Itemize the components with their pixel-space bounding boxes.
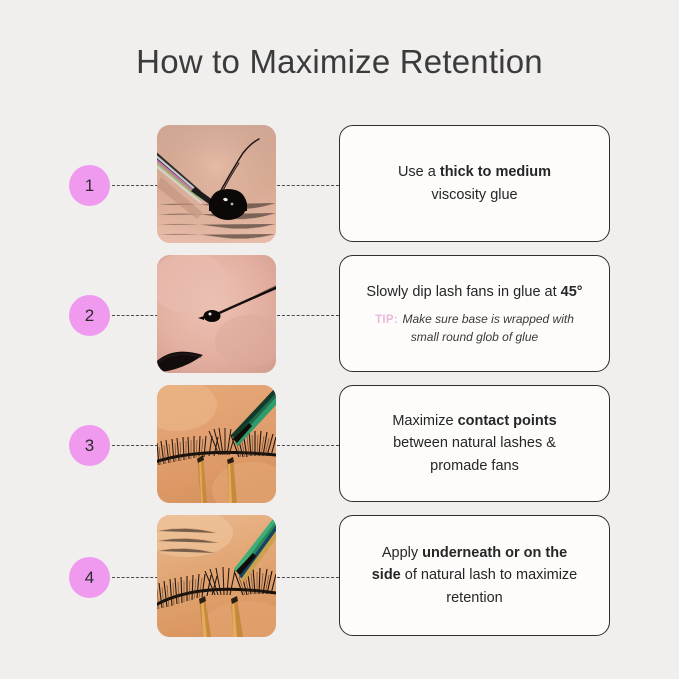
- card-text-line: between natural lashes &: [393, 432, 556, 454]
- tip-label: TIP:: [375, 314, 398, 326]
- card-text-line: promade fans: [430, 455, 519, 477]
- step-number-label: 4: [85, 568, 94, 588]
- step-row: 1: [0, 125, 679, 245]
- step-text-card: Maximize contact points between natural …: [339, 385, 610, 502]
- step-number-label: 2: [85, 306, 94, 326]
- card-text-line: Use a thick to medium: [398, 161, 551, 183]
- step-row: 2: [0, 255, 679, 375]
- page-title: How to Maximize Retention: [0, 42, 679, 82]
- card-text-plain: of natural lash to maximize: [401, 567, 578, 583]
- tweezers-lash-glue-drop-photo: [157, 125, 276, 243]
- step-text-card: Slowly dip lash fans in glue at 45° TIP:…: [339, 255, 610, 372]
- card-text-line: viscosity glue: [431, 184, 517, 206]
- lash-underneath-placement-photo: [157, 515, 276, 637]
- connector-photo-to-card: [277, 445, 339, 446]
- photo-artwork: [157, 255, 276, 373]
- lash-isolation-contact-points-photo: [157, 385, 276, 503]
- step-number-label: 1: [85, 176, 94, 196]
- card-text-line: side of natural lash to maximize: [372, 564, 578, 586]
- card-text-line: Maximize contact points: [392, 410, 556, 432]
- connector-badge-to-photo: [112, 445, 158, 446]
- tip-block: TIP: Make sure base is wrapped with smal…: [375, 310, 574, 347]
- card-text-plain: Apply: [382, 545, 422, 561]
- connector-badge-to-photo: [112, 577, 158, 578]
- lash-fan-glue-globule-photo: [157, 255, 276, 373]
- step-row: 4: [0, 515, 679, 639]
- step-number-badge: 4: [69, 557, 110, 598]
- card-text-plain: viscosity glue: [431, 187, 517, 203]
- card-text-line: Slowly dip lash fans in glue at 45°: [366, 281, 582, 303]
- card-text-plain: Maximize: [392, 413, 457, 429]
- connector-photo-to-card: [277, 315, 339, 316]
- connector-badge-to-photo: [112, 315, 158, 316]
- card-text-emphasis: contact points: [458, 413, 557, 429]
- card-text-line: retention: [446, 587, 502, 609]
- card-text-plain: retention: [446, 590, 502, 606]
- photo-artwork: [157, 125, 276, 243]
- card-text-line: Apply underneath or on the: [382, 542, 567, 564]
- connector-photo-to-card: [277, 185, 339, 186]
- step-row: 3: [0, 385, 679, 505]
- photo-artwork: [157, 515, 276, 637]
- tip-text-line: Make sure base is wrapped with: [402, 312, 573, 326]
- step-number-badge: 1: [69, 165, 110, 206]
- step-number-badge: 2: [69, 295, 110, 336]
- card-text-emphasis: 45°: [561, 284, 583, 300]
- card-text-plain: Slowly dip lash fans in glue at: [366, 284, 560, 300]
- tip-text-line: small round glob of glue: [375, 329, 574, 347]
- card-text-plain: Use a: [398, 164, 440, 180]
- card-text-emphasis: side: [372, 567, 401, 583]
- step-text-card: Use a thick to medium viscosity glue: [339, 125, 610, 242]
- connector-photo-to-card: [277, 577, 339, 578]
- card-text-emphasis: underneath or on the: [422, 545, 567, 561]
- step-number-badge: 3: [69, 425, 110, 466]
- photo-artwork: [157, 385, 276, 503]
- step-number-label: 3: [85, 436, 94, 456]
- step-text-card: Apply underneath or on the side of natur…: [339, 515, 610, 636]
- infographic-page: How to Maximize Retention 1: [0, 0, 679, 679]
- card-text-plain: promade fans: [430, 458, 519, 474]
- card-text-emphasis: thick to medium: [440, 164, 551, 180]
- card-text-plain: between natural lashes &: [393, 435, 556, 451]
- connector-badge-to-photo: [112, 185, 158, 186]
